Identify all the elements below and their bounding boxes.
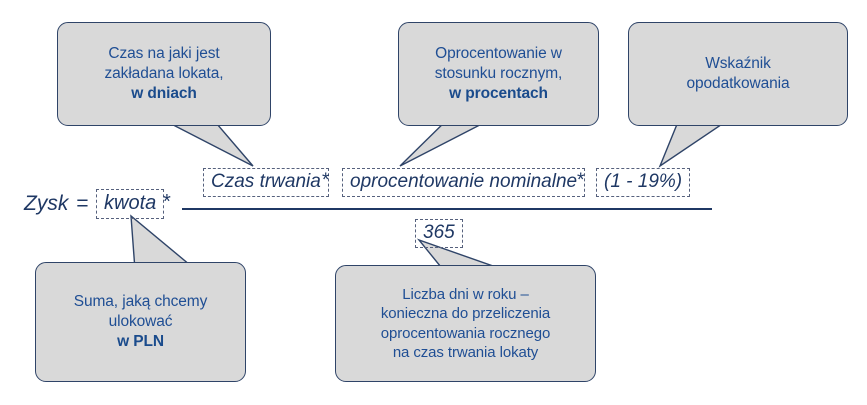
formula-multiply-a: * — [322, 170, 329, 192]
callout-line-emphasis: w PLN — [117, 332, 164, 352]
formula-principal-box[interactable]: kwota — [96, 189, 164, 219]
callout-line: na czas trwania lokaty — [393, 343, 538, 363]
principal-callout[interactable]: Suma, jaką chcemy ulokować w PLN — [35, 262, 246, 382]
formula-days-in-year-box[interactable]: 365 — [415, 219, 463, 248]
callout-line: Liczba dni w roku – — [402, 285, 529, 305]
callout-line: konieczna do przeliczenia — [381, 304, 550, 324]
formula-interest-rate-box[interactable]: oprocentowanie nominalne — [342, 168, 585, 197]
duration-callout[interactable]: Czas na jaki jest zakładana lokata, w dn… — [57, 22, 271, 126]
callout-line-emphasis: w procentach — [449, 84, 548, 104]
callout-line: zakładana lokata, — [105, 64, 224, 84]
tax-factor-callout[interactable]: Wskaźnik opodatkowania — [628, 22, 848, 126]
callout-line-emphasis: w dniach — [131, 84, 197, 104]
callout-line: Suma, jaką chcemy — [74, 292, 208, 312]
formula-equals-sign: = — [76, 192, 88, 216]
callout-line: Oprocentowanie w — [435, 44, 562, 64]
diagram-canvas: Czas na jaki jest zakładana lokata, w dn… — [0, 0, 867, 405]
callout-line: Czas na jaki jest — [108, 44, 219, 64]
callout-line: oprocentowania rocznego — [381, 324, 550, 344]
fraction-bar — [182, 208, 712, 210]
formula-multiply-1: * — [163, 191, 171, 214]
callout-line: opodatkowania — [687, 74, 790, 94]
formula-result-label: Zysk — [24, 192, 68, 216]
callout-line: Wskaźnik — [705, 54, 771, 74]
days-in-year-callout[interactable]: Liczba dni w roku – konieczna do przelic… — [335, 265, 596, 382]
interest-rate-callout[interactable]: Oprocentowanie w stosunku rocznym, w pro… — [398, 22, 599, 126]
callout-line: ulokować — [109, 312, 173, 332]
formula-duration-box[interactable]: Czas trwania — [203, 168, 329, 197]
formula-tax-factor-box[interactable]: (1 - 19%) — [596, 168, 690, 197]
formula-multiply-b: * — [577, 170, 584, 192]
callout-line: stosunku rocznym, — [435, 64, 563, 84]
